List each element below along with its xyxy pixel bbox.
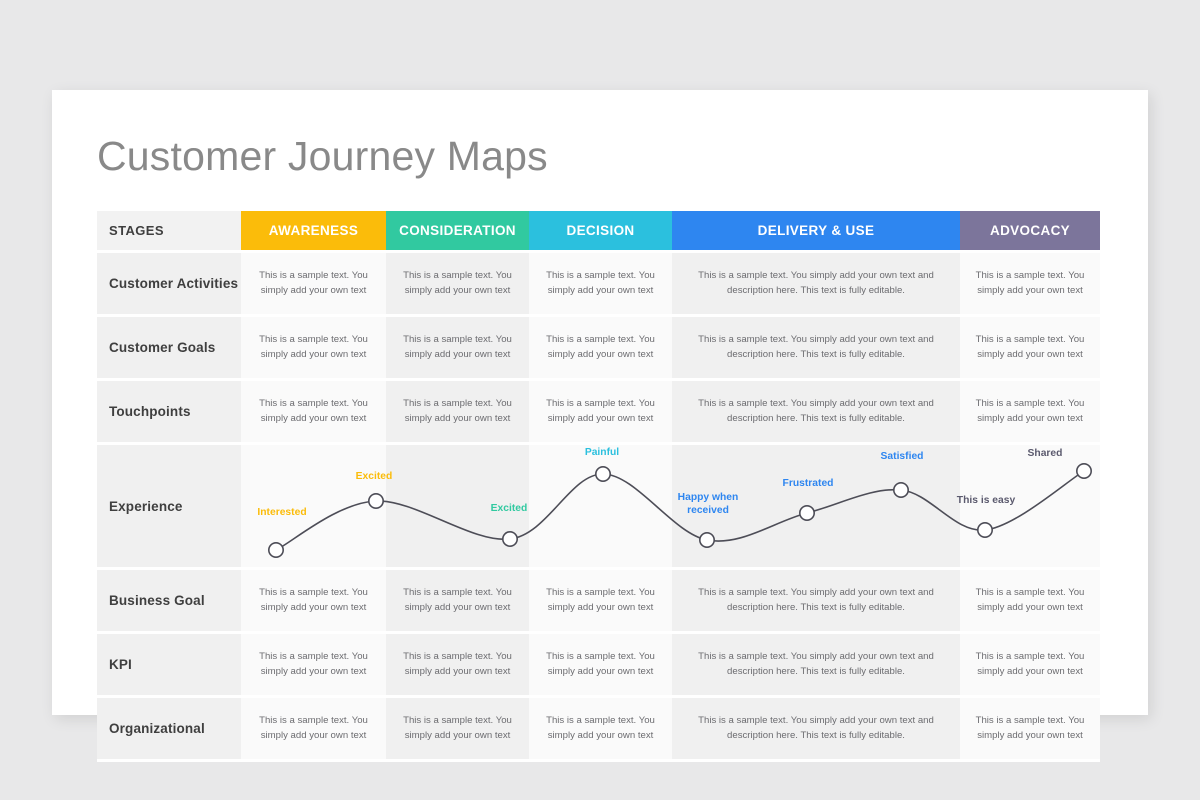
experience-canvas: InterestedExcitedExcitedPainfulHappy whe… — [241, 445, 1100, 567]
experience-node-7[interactable] — [978, 523, 992, 537]
experience-node-3[interactable] — [596, 467, 610, 481]
row-label-experience: Experience — [97, 445, 241, 567]
row-label-organizational: Organizational — [97, 698, 241, 759]
cell-business-goal-delivery[interactable]: This is a sample text. You simply add yo… — [672, 570, 960, 631]
cell-customer-goals-awareness[interactable]: This is a sample text. You simply add yo… — [241, 317, 386, 378]
experience-node-8[interactable] — [1077, 464, 1091, 478]
cell-customer-activities-consideration[interactable]: This is a sample text. You simply add yo… — [386, 253, 529, 314]
experience-node-4[interactable] — [700, 533, 714, 547]
cell-customer-goals-decision[interactable]: This is a sample text. You simply add yo… — [529, 317, 672, 378]
cell-kpi-advocacy[interactable]: This is a sample text. You simply add yo… — [960, 634, 1100, 695]
cell-customer-activities-delivery[interactable]: This is a sample text. You simply add yo… — [672, 253, 960, 314]
customer-journey-table: STAGESAWARENESSCONSIDERATIONDECISIONDELI… — [97, 211, 1100, 762]
experience-node-5[interactable] — [800, 506, 814, 520]
row-separator — [97, 759, 1100, 762]
cell-customer-activities-advocacy[interactable]: This is a sample text. You simply add yo… — [960, 253, 1100, 314]
row-label-business-goal: Business Goal — [97, 570, 241, 631]
table-row: TouchpointsThis is a sample text. You si… — [97, 381, 1100, 442]
experience-label-6: Satisfied — [881, 451, 924, 464]
page-title: Customer Journey Maps — [97, 133, 548, 180]
experience-chart-cell: InterestedExcitedExcitedPainfulHappy whe… — [241, 445, 1100, 567]
table-header-row: STAGESAWARENESSCONSIDERATIONDECISIONDELI… — [97, 211, 1100, 250]
table-row: KPIThis is a sample text. You simply add… — [97, 634, 1100, 695]
experience-label-4: Happy when received — [665, 492, 751, 517]
experience-node-0[interactable] — [269, 543, 283, 557]
cell-organizational-decision[interactable]: This is a sample text. You simply add yo… — [529, 698, 672, 759]
row-label-touchpoints: Touchpoints — [97, 381, 241, 442]
slide-canvas: Customer Journey Maps STAGESAWARENESSCON… — [52, 90, 1148, 715]
cell-business-goal-awareness[interactable]: This is a sample text. You simply add yo… — [241, 570, 386, 631]
table-row: ExperienceInterestedExcitedExcitedPainfu… — [97, 445, 1100, 567]
cell-touchpoints-awareness[interactable]: This is a sample text. You simply add yo… — [241, 381, 386, 442]
cell-organizational-delivery[interactable]: This is a sample text. You simply add yo… — [672, 698, 960, 759]
experience-label-5: Frustrated — [783, 478, 834, 491]
row-label-customer-goals: Customer Goals — [97, 317, 241, 378]
table-row: OrganizationalThis is a sample text. You… — [97, 698, 1100, 759]
cell-customer-goals-consideration[interactable]: This is a sample text. You simply add yo… — [386, 317, 529, 378]
cell-customer-goals-delivery[interactable]: This is a sample text. You simply add yo… — [672, 317, 960, 378]
experience-label-8: Shared — [1028, 448, 1063, 461]
cell-kpi-delivery[interactable]: This is a sample text. You simply add yo… — [672, 634, 960, 695]
experience-node-2[interactable] — [503, 532, 517, 546]
cell-touchpoints-decision[interactable]: This is a sample text. You simply add yo… — [529, 381, 672, 442]
table-row: Customer GoalsThis is a sample text. You… — [97, 317, 1100, 378]
header-consideration[interactable]: CONSIDERATION — [386, 211, 529, 250]
experience-label-1: Excited — [356, 471, 393, 484]
experience-node-1[interactable] — [369, 494, 383, 508]
cell-organizational-advocacy[interactable]: This is a sample text. You simply add yo… — [960, 698, 1100, 759]
header-decision[interactable]: DECISION — [529, 211, 672, 250]
experience-label-7: This is easy — [957, 495, 1015, 508]
row-label-customer-activities: Customer Activities — [97, 253, 241, 314]
row-label-kpi: KPI — [97, 634, 241, 695]
table-row: Customer ActivitiesThis is a sample text… — [97, 253, 1100, 314]
cell-organizational-consideration[interactable]: This is a sample text. You simply add yo… — [386, 698, 529, 759]
cell-kpi-decision[interactable]: This is a sample text. You simply add yo… — [529, 634, 672, 695]
cell-kpi-consideration[interactable]: This is a sample text. You simply add yo… — [386, 634, 529, 695]
experience-label-3: Painful — [585, 447, 619, 460]
header-delivery[interactable]: DELIVERY & USE — [672, 211, 960, 250]
cell-business-goal-consideration[interactable]: This is a sample text. You simply add yo… — [386, 570, 529, 631]
table-row: Business GoalThis is a sample text. You … — [97, 570, 1100, 631]
header-advocacy[interactable]: ADVOCACY — [960, 211, 1100, 250]
cell-customer-goals-advocacy[interactable]: This is a sample text. You simply add yo… — [960, 317, 1100, 378]
experience-label-0: Interested — [257, 507, 306, 520]
cell-customer-activities-decision[interactable]: This is a sample text. You simply add yo… — [529, 253, 672, 314]
experience-node-6[interactable] — [894, 483, 908, 497]
cell-touchpoints-consideration[interactable]: This is a sample text. You simply add yo… — [386, 381, 529, 442]
header-awareness[interactable]: AWARENESS — [241, 211, 386, 250]
cell-customer-activities-awareness[interactable]: This is a sample text. You simply add yo… — [241, 253, 386, 314]
cell-touchpoints-delivery[interactable]: This is a sample text. You simply add yo… — [672, 381, 960, 442]
cell-kpi-awareness[interactable]: This is a sample text. You simply add yo… — [241, 634, 386, 695]
header-stages: STAGES — [97, 211, 241, 250]
experience-label-2: Excited — [491, 503, 528, 516]
cell-organizational-awareness[interactable]: This is a sample text. You simply add yo… — [241, 698, 386, 759]
cell-touchpoints-advocacy[interactable]: This is a sample text. You simply add yo… — [960, 381, 1100, 442]
cell-business-goal-advocacy[interactable]: This is a sample text. You simply add yo… — [960, 570, 1100, 631]
cell-business-goal-decision[interactable]: This is a sample text. You simply add yo… — [529, 570, 672, 631]
